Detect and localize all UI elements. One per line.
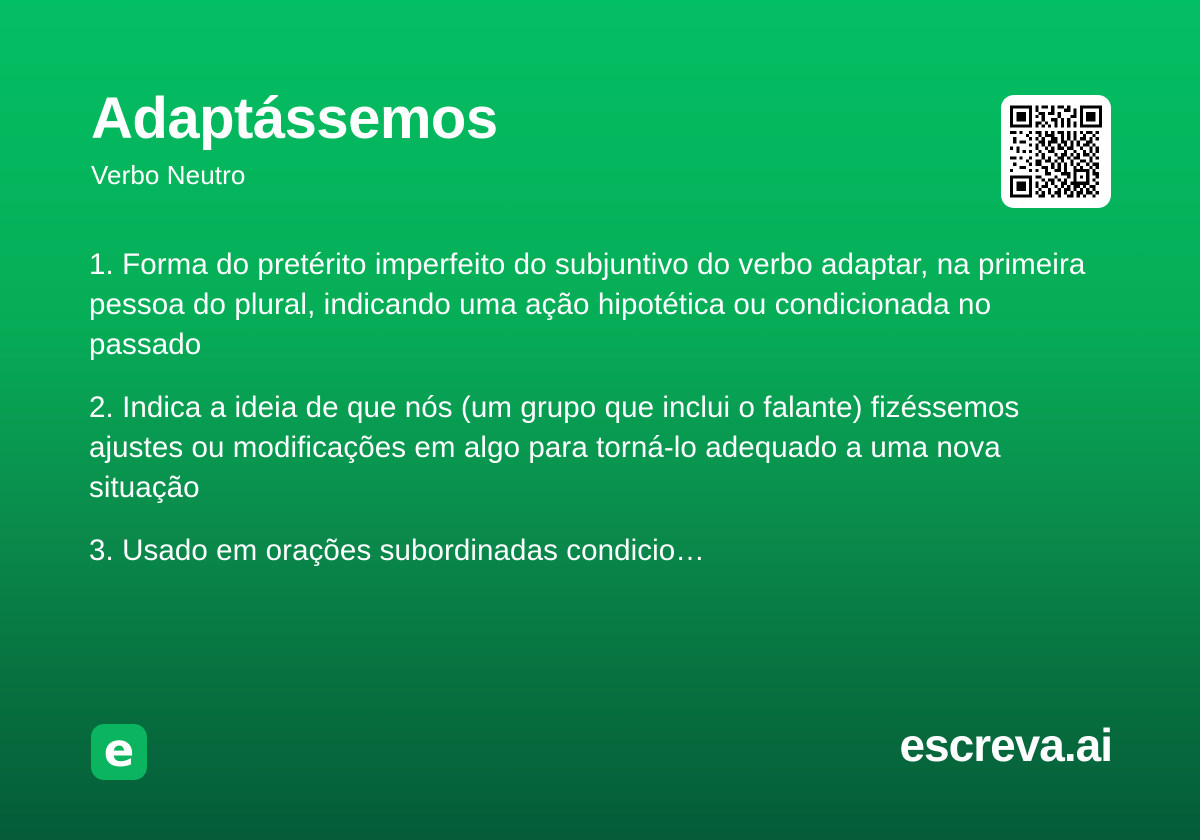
definition-item: 3. Usado em orações subordinadas condici… [89, 531, 1109, 571]
qr-code-icon [1010, 104, 1102, 199]
qr-code-panel[interactable] [1001, 95, 1111, 208]
card-header: Adaptássemos Verbo Neutro [91, 88, 951, 191]
definition-item: 2. Indica a ideia de que nós (um grupo q… [89, 388, 1109, 508]
brand-wordmark: escreva.ai [899, 722, 1112, 768]
page-title: Adaptássemos [91, 88, 951, 151]
brand-logo[interactable]: e [91, 724, 147, 780]
word-class-label: Verbo Neutro [91, 160, 951, 191]
definition-list: 1. Forma do pretérito imperfeito do subj… [89, 245, 1109, 571]
definition-item: 1. Forma do pretérito imperfeito do subj… [89, 245, 1109, 365]
definition-card: Adaptássemos Verbo Neutro [0, 0, 1200, 840]
brand-logo-mark: e [104, 728, 135, 773]
